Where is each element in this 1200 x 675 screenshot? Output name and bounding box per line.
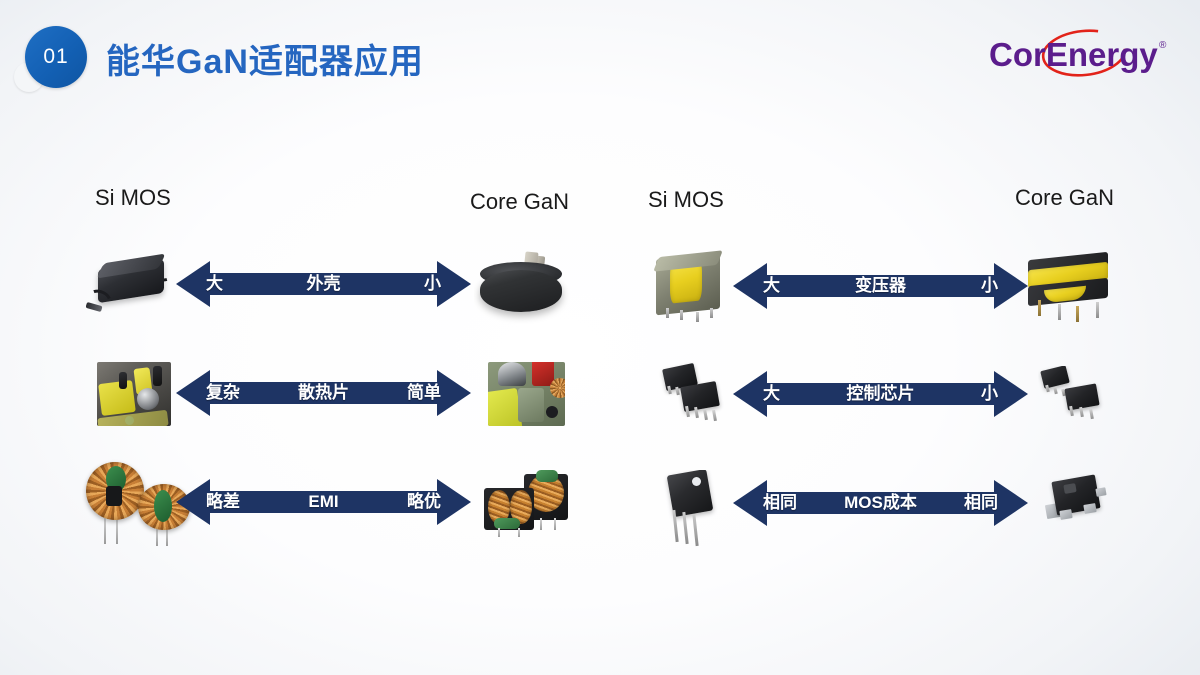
arrow-label-right: 小 <box>981 261 998 311</box>
logo-wordmark: CorEnergy <box>989 36 1158 73</box>
arrow-transformer: 大 变压器 小 <box>733 261 1028 311</box>
image-core-gan-dpak-package <box>1040 474 1120 536</box>
image-core-gan-compact-pcb <box>484 358 569 430</box>
right-panel-head-core-gan: Core GaN <box>1015 185 1114 211</box>
slide-header: 01 能华GaN适配器应用 CorEnergy ® <box>0 0 1200 110</box>
page-title: 能华GaN适配器应用 <box>106 34 424 83</box>
arrow-label-right: 小 <box>424 259 441 309</box>
logo-svg: CorEnergy ® <box>983 26 1178 84</box>
corenergy-logo: CorEnergy ® <box>983 26 1178 84</box>
image-core-gan-flat-transformer <box>1022 250 1124 326</box>
image-core-gan-flat-chokes <box>480 468 580 542</box>
arrow-heatsink: 复杂 散热片 简单 <box>176 368 471 418</box>
arrow-enclosure: 大 外壳 小 <box>176 259 471 309</box>
image-si-mos-adapter-brick <box>86 246 181 324</box>
image-si-mos-open-frame-pcb <box>93 358 175 430</box>
slide-root: 01 能华GaN适配器应用 CorEnergy ® Si MOS Core Ga… <box>0 0 1200 675</box>
image-core-gan-sot-ics <box>1038 366 1114 424</box>
image-si-mos-to220-package <box>662 470 734 548</box>
arrow-label-right: 小 <box>981 369 998 419</box>
arrow-label-right: 相同 <box>964 478 998 528</box>
logo-trademark: ® <box>1159 40 1167 51</box>
image-si-mos-sop8-ics <box>658 362 736 426</box>
arrow-emi: 略差 EMI 略优 <box>176 477 471 527</box>
left-panel-head-core-gan: Core GaN <box>470 189 569 215</box>
right-panel-head-si-mos: Si MOS <box>648 187 724 213</box>
left-panel-head-si-mos: Si MOS <box>95 185 171 211</box>
arrow-label-right: 略优 <box>407 477 441 527</box>
section-number-badge: 01 <box>25 26 87 88</box>
arrow-mos-cost: 相同 MOS成本 相同 <box>733 478 1028 528</box>
image-core-gan-oval-charger <box>474 248 574 324</box>
arrow-controller: 大 控制芯片 小 <box>733 369 1028 419</box>
arrow-label-right: 简单 <box>407 368 441 418</box>
image-si-mos-ee-transformer <box>652 248 734 326</box>
